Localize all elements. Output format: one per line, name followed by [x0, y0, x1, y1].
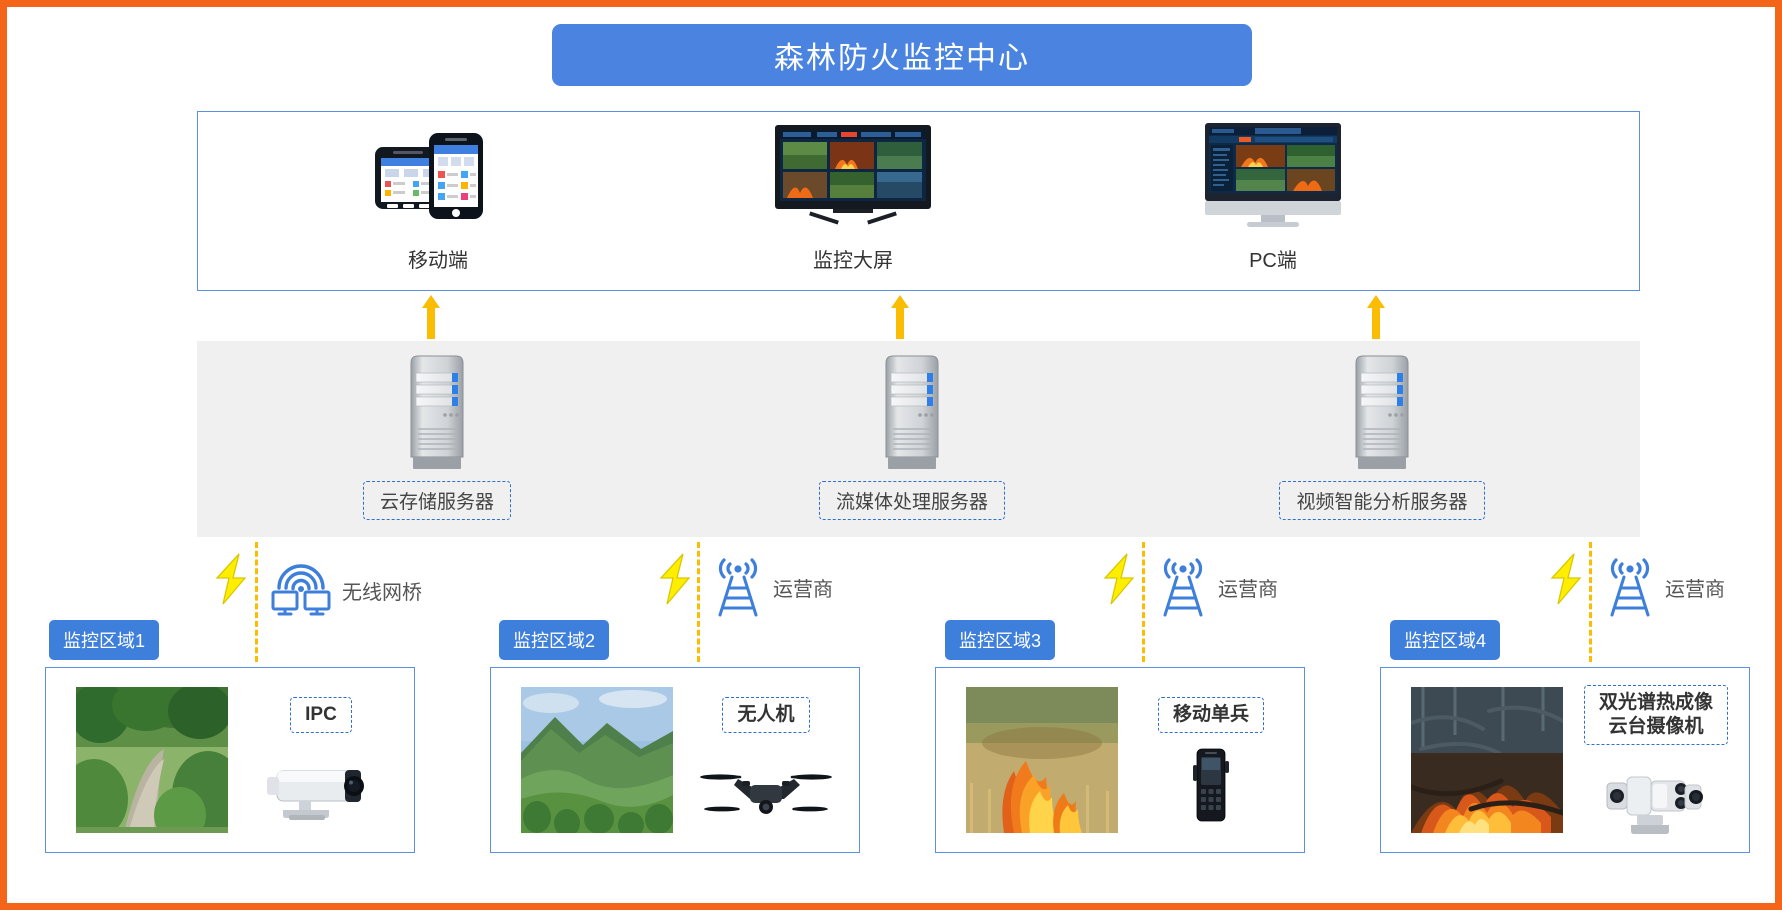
- zone-tag-3[interactable]: 监控区域3: [945, 620, 1055, 660]
- client-layer-panel: 移动端: [197, 111, 1640, 291]
- zone-box-2[interactable]: 无人机: [490, 667, 860, 853]
- zone-tag-3-label: 监控区域3: [959, 631, 1041, 651]
- zone-box-4[interactable]: 双光谱热成像 云台摄像机: [1380, 667, 1750, 853]
- client-pc-label: PC端: [1249, 244, 1297, 273]
- server-streaming-label: 流媒体处理服务器: [819, 481, 1005, 520]
- transmission-carrier-4-label: 运营商: [1665, 573, 1725, 602]
- zone-1-device-label: IPC: [290, 697, 352, 733]
- server-cloud-storage[interactable]: 云存储服务器: [287, 341, 587, 537]
- page-title: 森林防火监控中心: [552, 24, 1252, 86]
- server-layer-panel: 云存储服务器: [197, 341, 1640, 537]
- client-videowall-label: 监控大屏: [813, 244, 893, 273]
- tv-videowall-icon: [758, 120, 948, 230]
- ptz-thermal-camera-icon: [1593, 759, 1719, 835]
- arrow-to-mobile: [422, 295, 440, 339]
- arrow-to-pc: [1367, 295, 1385, 339]
- tower-server-icon: [872, 353, 952, 471]
- transmission-wireless-bridge-label: 无线网桥: [342, 576, 422, 605]
- handheld-terminal-icon: [1181, 747, 1241, 823]
- server-streaming[interactable]: 流媒体处理服务器: [762, 341, 1062, 537]
- diagram-canvas: 森林防火监控中心: [0, 0, 1782, 910]
- zone-box-3[interactable]: 移动单兵: [935, 667, 1305, 853]
- drop-line-zone3: [1142, 542, 1145, 662]
- smartphones-icon: [343, 120, 533, 230]
- transmission-wireless-bridge[interactable]: 无线网桥: [269, 562, 422, 618]
- zone-1-device: IPC: [228, 668, 414, 852]
- zone-3-device-label: 移动单兵: [1158, 697, 1264, 733]
- zone-tag-2-label: 监控区域2: [513, 631, 595, 651]
- lightning-bolt-zone4: [1544, 552, 1588, 611]
- desktop-imac-icon: [1178, 120, 1368, 230]
- transmission-carrier-3-label: 运营商: [1218, 573, 1278, 602]
- tower-server-icon: [397, 353, 477, 471]
- cell-tower-icon: [712, 555, 764, 619]
- transmission-carrier-4[interactable]: 运营商: [1604, 555, 1725, 619]
- lightning-bolt-zone3: [1097, 552, 1141, 611]
- drop-line-zone2: [697, 542, 700, 662]
- zone-3-device: 移动单兵: [1118, 668, 1304, 852]
- zone-tag-4[interactable]: 监控区域4: [1390, 620, 1500, 660]
- forest-fire-photo: [1411, 687, 1563, 833]
- client-mobile[interactable]: 移动端: [293, 112, 583, 292]
- server-video-analysis[interactable]: 视频智能分析服务器: [1217, 341, 1547, 537]
- zone-tag-1[interactable]: 监控区域1: [49, 620, 159, 660]
- zone-tag-2[interactable]: 监控区域2: [499, 620, 609, 660]
- zone-2-device: 无人机: [673, 668, 859, 852]
- transmission-carrier-2-label: 运营商: [773, 573, 833, 602]
- wireless-bridge-icon: [269, 562, 333, 618]
- cell-tower-icon: [1604, 555, 1656, 619]
- lightning-bolt-zone2: [653, 552, 697, 611]
- client-videowall[interactable]: 监控大屏: [708, 112, 998, 292]
- grass-fire-photo: [966, 687, 1118, 833]
- zone-box-1[interactable]: IPC: [45, 667, 415, 853]
- zone-4-device-label: 双光谱热成像 云台摄像机: [1584, 685, 1728, 745]
- green-mountain-photo: [521, 687, 673, 833]
- cell-tower-icon: [1157, 555, 1209, 619]
- zone-4-device: 双光谱热成像 云台摄像机: [1563, 668, 1749, 852]
- server-cloud-storage-label: 云存储服务器: [363, 481, 511, 520]
- tower-server-icon: [1342, 353, 1422, 471]
- zone-tag-1-label: 监控区域1: [63, 631, 145, 651]
- zone-tag-4-label: 监控区域4: [1404, 631, 1486, 651]
- drop-line-zone4: [1589, 542, 1592, 662]
- transmission-carrier-2[interactable]: 运营商: [712, 555, 833, 619]
- transmission-carrier-3[interactable]: 运营商: [1157, 555, 1278, 619]
- page-title-text: 森林防火监控中心: [774, 33, 1030, 77]
- arrow-to-videowall: [891, 295, 909, 339]
- lightning-bolt-zone1: [209, 552, 253, 611]
- bullet-camera-icon: [259, 747, 383, 823]
- client-pc[interactable]: PC端: [1128, 112, 1418, 292]
- drop-line-zone1: [255, 542, 258, 662]
- forest-road-photo: [76, 687, 228, 833]
- client-mobile-label: 移动端: [408, 244, 468, 273]
- server-video-analysis-label: 视频智能分析服务器: [1279, 481, 1484, 520]
- zone-2-device-label: 无人机: [722, 697, 809, 733]
- drone-icon: [698, 747, 834, 823]
